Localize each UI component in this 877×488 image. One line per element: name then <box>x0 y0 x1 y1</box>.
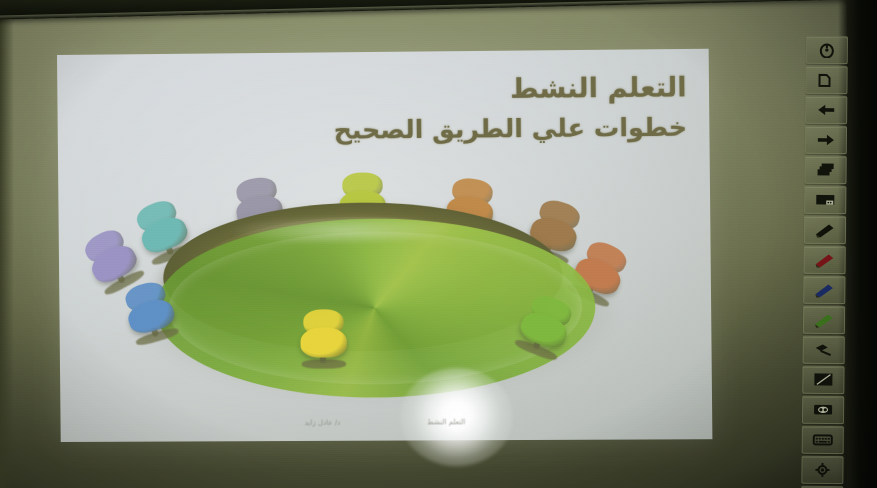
projected-slide: التعلم النشط خطوات علي الطريق الصحيح الت… <box>57 49 712 442</box>
whiteboard-photo-scene: التعلم النشط خطوات علي الطريق الصحيح الت… <box>0 0 877 488</box>
arrow-right-icon[interactable] <box>805 126 847 154</box>
keyboard-icon[interactable] <box>802 426 844 454</box>
slide-title-line2: خطوات علي الطريق الصحيح <box>334 110 688 149</box>
slide-title: التعلم النشط خطوات علي الطريق الصحيح <box>333 69 687 148</box>
wall-left-shadow <box>0 0 14 488</box>
presentation-icon[interactable] <box>804 186 846 214</box>
camera-icon[interactable] <box>802 396 844 424</box>
chair-layer-back <box>76 162 681 167</box>
whiteboard-right-bezel <box>847 0 877 488</box>
slide-title-line1: التعلم النشط <box>333 69 687 111</box>
slide-footer-left: د/ عادل زايد <box>305 419 341 427</box>
layers-icon[interactable] <box>804 156 846 184</box>
whiteboard-side-toolbar[interactable]: U? <box>801 36 850 488</box>
pen-blue-icon[interactable] <box>803 276 845 304</box>
pen-black-icon[interactable] <box>804 216 846 244</box>
eraser-icon[interactable] <box>803 336 845 364</box>
chair-seat <box>300 327 347 357</box>
conference-table-illustration <box>76 162 684 417</box>
pen-red-icon[interactable] <box>804 246 846 274</box>
spotlight-icon[interactable] <box>802 366 844 394</box>
slide-footer: التعلم النشط د/ عادل زايد <box>61 417 713 428</box>
pen-green-icon[interactable] <box>803 306 845 334</box>
arrow-left-icon[interactable] <box>805 96 847 124</box>
power-mouse-icon[interactable] <box>806 36 848 64</box>
slide-footer-right: التعلم النشط <box>427 418 465 426</box>
chair-layer-front <box>76 162 681 167</box>
page-icon[interactable] <box>805 66 847 94</box>
crosshair-icon[interactable] <box>801 456 843 484</box>
